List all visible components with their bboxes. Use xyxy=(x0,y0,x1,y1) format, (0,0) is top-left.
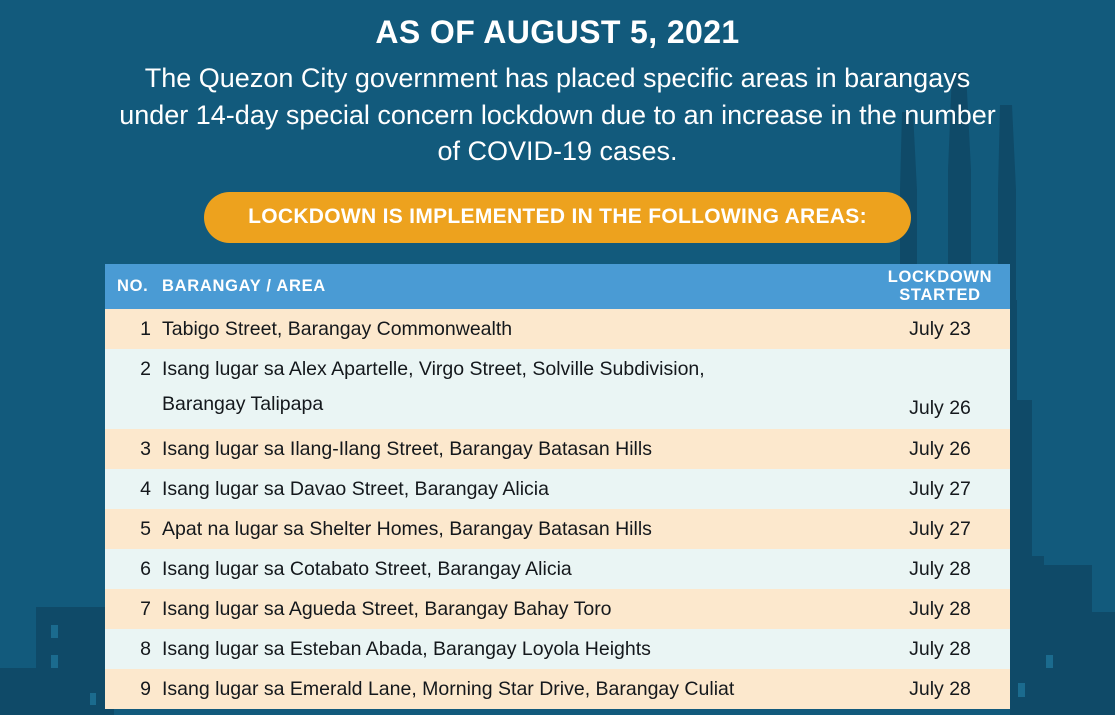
lockdown-areas-table: NO. BARANGAY / AREA LOCKDOWN STARTED 1Ta… xyxy=(105,264,1010,709)
infographic-content: AS OF AUGUST 5, 2021 The Quezon City gov… xyxy=(0,0,1115,715)
table-row: 3Isang lugar sa Ilang-Ilang Street, Bara… xyxy=(105,429,1010,469)
cell-lockdown-started: July 26 xyxy=(870,397,1010,429)
cell-lockdown-started: July 27 xyxy=(870,478,1010,501)
banner-wrap: LOCKDOWN IS IMPLEMENTED IN THE FOLLOWING… xyxy=(0,192,1115,243)
cell-area-line1: Isang lugar sa Esteban Abada, Barangay L… xyxy=(162,638,651,660)
cell-area-line1: Isang lugar sa Cotabato Street, Barangay… xyxy=(162,558,572,580)
cell-number: 5 xyxy=(105,518,160,541)
cell-lockdown-started: July 28 xyxy=(870,678,1010,701)
table-row: 2Isang lugar sa Alex Apartelle, Virgo St… xyxy=(105,349,1010,429)
cell-area: Isang lugar sa Alex Apartelle, Virgo Str… xyxy=(160,349,870,429)
column-header-lockdown-started: LOCKDOWN STARTED xyxy=(870,269,1010,305)
page-subtitle: The Quezon City government has placed sp… xyxy=(108,60,1008,170)
table-row: 9Isang lugar sa Emerald Lane, Morning St… xyxy=(105,669,1010,709)
cell-number: 3 xyxy=(105,438,160,461)
cell-number: 8 xyxy=(105,638,160,661)
cell-area: Apat na lugar sa Shelter Homes, Barangay… xyxy=(160,518,870,541)
cell-area-line1: Tabigo Street, Barangay Commonwealth xyxy=(162,318,512,340)
column-header-lockdown-line1: LOCKDOWN xyxy=(888,268,993,286)
cell-area-line1: Isang lugar sa Agueda Street, Barangay B… xyxy=(162,598,612,620)
page-title: AS OF AUGUST 5, 2021 xyxy=(0,12,1115,52)
table-row: 4Isang lugar sa Davao Street, Barangay A… xyxy=(105,469,1010,509)
table-row: 8Isang lugar sa Esteban Abada, Barangay … xyxy=(105,629,1010,669)
table-header-row: NO. BARANGAY / AREA LOCKDOWN STARTED xyxy=(105,264,1010,309)
column-header-lockdown-line2: STARTED xyxy=(899,286,981,304)
header-block: AS OF AUGUST 5, 2021 The Quezon City gov… xyxy=(0,0,1115,170)
cell-number: 7 xyxy=(105,598,160,621)
cell-area: Isang lugar sa Emerald Lane, Morning Sta… xyxy=(160,678,870,701)
cell-lockdown-started: July 26 xyxy=(870,438,1010,461)
cell-area-line1: Isang lugar sa Alex Apartelle, Virgo Str… xyxy=(162,358,705,380)
column-header-no: NO. xyxy=(105,277,160,296)
cell-number: 6 xyxy=(105,558,160,581)
table-row: 1Tabigo Street, Barangay CommonwealthJul… xyxy=(105,309,1010,349)
column-header-area: BARANGAY / AREA xyxy=(160,277,870,296)
cell-area: Isang lugar sa Ilang-Ilang Street, Baran… xyxy=(160,438,870,461)
cell-area: Isang lugar sa Agueda Street, Barangay B… xyxy=(160,598,870,621)
cell-number: 1 xyxy=(105,318,160,341)
cell-area-line2: Barangay Talipapa xyxy=(162,393,864,416)
cell-lockdown-started: July 28 xyxy=(870,638,1010,661)
table-row: 5Apat na lugar sa Shelter Homes, Baranga… xyxy=(105,509,1010,549)
cell-area-line1: Isang lugar sa Emerald Lane, Morning Sta… xyxy=(162,678,734,700)
cell-lockdown-started: July 27 xyxy=(870,518,1010,541)
table-row: 7Isang lugar sa Agueda Street, Barangay … xyxy=(105,589,1010,629)
cell-area-line1: Isang lugar sa Ilang-Ilang Street, Baran… xyxy=(162,438,652,460)
cell-area: Isang lugar sa Davao Street, Barangay Al… xyxy=(160,478,870,501)
cell-area: Isang lugar sa Cotabato Street, Barangay… xyxy=(160,558,870,581)
cell-area: Isang lugar sa Esteban Abada, Barangay L… xyxy=(160,638,870,661)
lockdown-banner: LOCKDOWN IS IMPLEMENTED IN THE FOLLOWING… xyxy=(204,192,911,243)
cell-lockdown-started: July 23 xyxy=(870,318,1010,341)
cell-lockdown-started: July 28 xyxy=(870,598,1010,621)
cell-number: 4 xyxy=(105,478,160,501)
cell-lockdown-started: July 28 xyxy=(870,558,1010,581)
cell-area-line1: Isang lugar sa Davao Street, Barangay Al… xyxy=(162,478,549,500)
table-row: 6Isang lugar sa Cotabato Street, Baranga… xyxy=(105,549,1010,589)
table-body: 1Tabigo Street, Barangay CommonwealthJul… xyxy=(105,309,1010,709)
cell-area: Tabigo Street, Barangay Commonwealth xyxy=(160,318,870,341)
cell-area-line1: Apat na lugar sa Shelter Homes, Barangay… xyxy=(162,518,652,540)
cell-number: 2 xyxy=(105,349,160,429)
cell-number: 9 xyxy=(105,678,160,701)
